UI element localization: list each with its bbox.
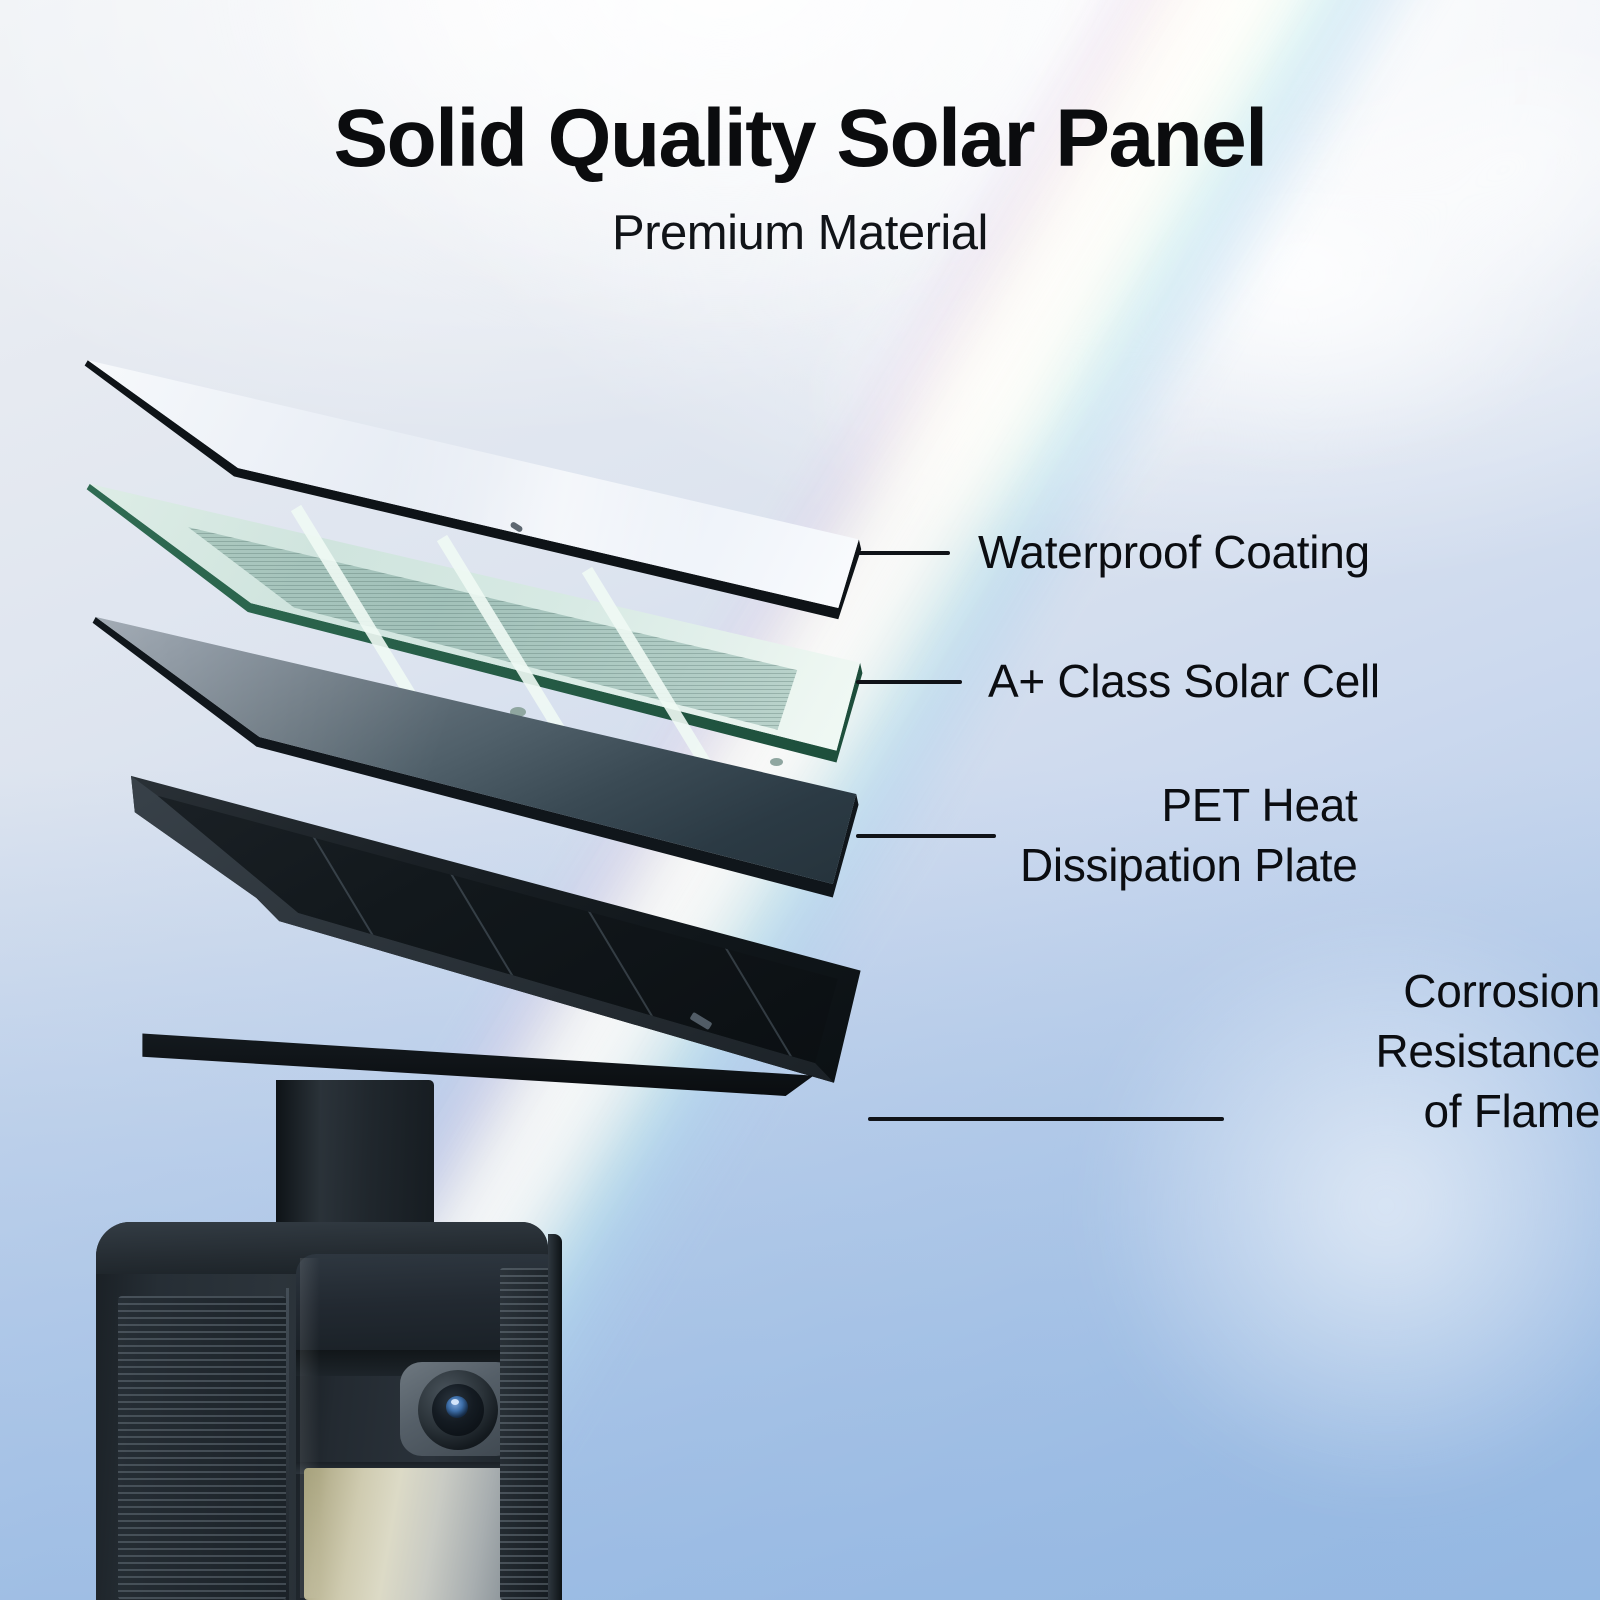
- leader-line: [856, 551, 950, 555]
- callout-corrosion-resistance: Corrosion Resistance of Flame: [868, 962, 1600, 1141]
- leader-line: [856, 680, 962, 684]
- callout-label: Waterproof Coating: [978, 523, 1370, 583]
- header-block: Solid Quality Solar Panel Premium Materi…: [0, 96, 1600, 261]
- callout-solar-cell: A+ Class Solar Cell: [856, 652, 1380, 712]
- leader-line: [868, 1117, 1224, 1121]
- page-title: Solid Quality Solar Panel: [0, 96, 1600, 181]
- page-subtitle: Premium Material: [0, 205, 1600, 261]
- callout-pet-heat-plate: PET Heat Dissipation Plate: [856, 776, 1358, 896]
- callout-label: Corrosion Resistance of Flame: [1246, 962, 1600, 1141]
- callout-label: A+ Class Solar Cell: [988, 652, 1380, 712]
- leader-line: [856, 834, 996, 838]
- callout-label: PET Heat Dissipation Plate: [1020, 776, 1358, 896]
- infographic-canvas: Solid Quality Solar Panel Premium Materi…: [0, 0, 1600, 1600]
- callout-waterproof-coating: Waterproof Coating: [856, 523, 1370, 583]
